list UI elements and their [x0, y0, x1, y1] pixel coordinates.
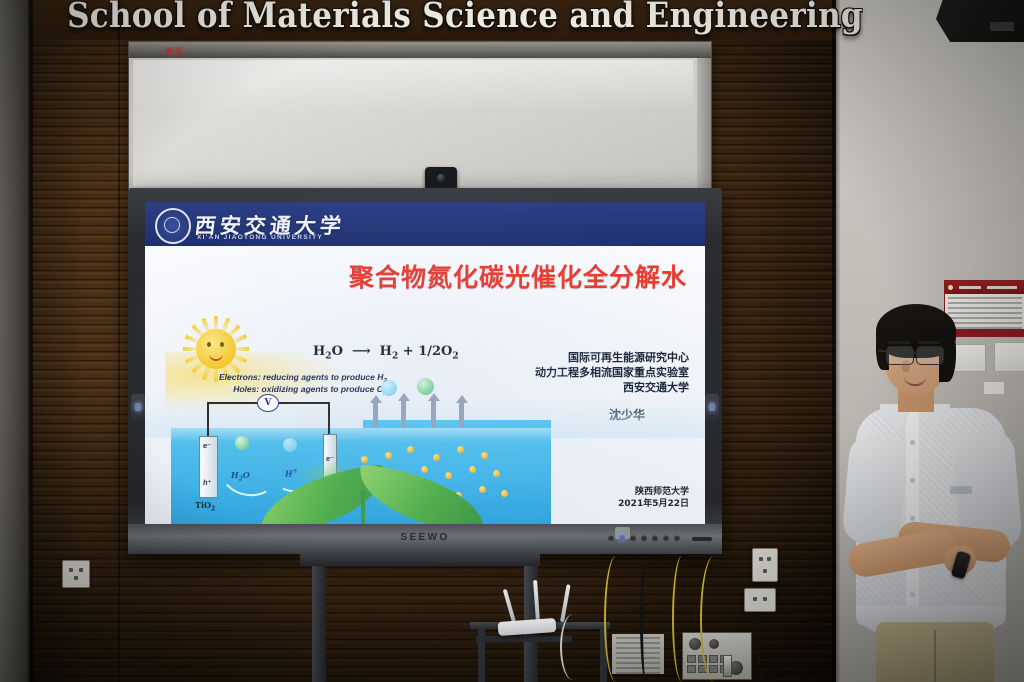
eyebrow-left [888, 341, 910, 344]
left-pillar [0, 0, 30, 682]
display-side-button-left[interactable] [131, 394, 145, 420]
wall-banner: School of Materials Science and Engineer… [120, 0, 810, 36]
display-brand-logo: SEEWO [400, 532, 449, 543]
lecture-hall-photo: School of Materials Science and Engineer… [0, 0, 1024, 682]
leaf-stem [361, 490, 365, 524]
power-indicator-icon [135, 403, 141, 411]
shirt-button [910, 440, 915, 445]
display-screen[interactable]: 西安交通大学 XI'AN JIAOTONG UNIVERSITY 聚合物氮化碳光… [145, 202, 705, 524]
catalyst-particle [421, 466, 428, 473]
nose [902, 360, 910, 372]
affiliation-line-1: 国际可再生能源研究中心 [535, 350, 689, 365]
wire-top-right [275, 402, 329, 404]
affiliation-line-2: 动力工程多相流国家重点实验室 [535, 365, 689, 380]
volume-down-icon[interactable] [652, 535, 658, 541]
slide-header-bar: 西安交通大学 XI'AN JIAOTONG UNIVERSITY [145, 202, 705, 246]
catalyst-particle [501, 490, 508, 497]
hole-symbol-left: h⁺ [203, 478, 212, 487]
eq-plus: + [403, 344, 414, 359]
catalyst-particle [407, 446, 414, 453]
shirt-button [910, 516, 915, 521]
voltmeter-icon: V [257, 394, 279, 412]
poster-emblem-icon [948, 285, 953, 290]
shirt-chest-logo [950, 486, 972, 494]
slide-footer: 陕西师范大学 2021年5月22日 [618, 486, 689, 510]
router-power-cable [560, 614, 586, 680]
catalyst-particle [481, 452, 488, 459]
eq-product1: H [380, 344, 392, 359]
slide-title: 聚合物氮化碳光催化全分解水 [145, 258, 687, 294]
eq-reactant-tail: O [332, 344, 343, 359]
display-camera [425, 167, 457, 189]
h2-bubble-rising [381, 380, 397, 396]
gas-arrow-3 [431, 400, 436, 428]
affiliation-block: 国际可再生能源研究中心 动力工程多相流国家重点实验室 西安交通大学 [535, 350, 689, 395]
catalyst-particle [385, 452, 392, 459]
university-seal-icon [155, 208, 191, 244]
wall-outlet-right[interactable] [752, 548, 778, 582]
catalyst-particle [479, 486, 486, 493]
shirt-button [910, 478, 915, 483]
eq-arrow-icon: ⟶ [352, 344, 371, 359]
h2-bubble-left [283, 438, 297, 452]
display-side-button-right[interactable] [705, 394, 719, 420]
glasses-lens-right [916, 346, 944, 365]
catalyst-particle [445, 472, 452, 479]
gas-arrow-4 [459, 402, 464, 428]
wire-left [207, 402, 209, 438]
eq-reactant: H [313, 344, 325, 359]
university-name-en: XI'AN JIAOTONG UNIVERSITY [197, 234, 323, 241]
electron-symbol-left: e⁻ [203, 441, 211, 450]
label-water-molecule: H2O [231, 470, 250, 483]
catalyst-particle [433, 454, 440, 461]
ethernet-cable-2 [672, 556, 692, 682]
presentation-slide: 西安交通大学 XI'AN JIAOTONG UNIVERSITY 聚合物氮化碳光… [145, 202, 705, 524]
power-indicator-icon [709, 403, 715, 411]
note-holes: Holes: oxidizing agents to produce O2 [233, 384, 387, 397]
sun-icon [185, 318, 247, 380]
gas-arrow-1 [373, 402, 378, 428]
wall-banner-text: School of Materials Science and Engineer… [67, 0, 863, 36]
display-button-row[interactable] [608, 535, 680, 541]
power-button-icon[interactable] [619, 535, 625, 541]
note-electrons: Electrons: reducing agents to produce H2 [219, 372, 387, 385]
eq-product2: O [441, 344, 452, 359]
o2-bubble-left [235, 436, 249, 450]
ethernet-cable-3 [700, 556, 728, 682]
volume-up-icon[interactable] [663, 535, 669, 541]
power-cable-1 [640, 556, 653, 682]
catalyst-particle [457, 446, 464, 453]
water-surface-sheen [171, 428, 551, 442]
shirt-button [910, 592, 915, 597]
wall-speaker [936, 0, 1024, 42]
speaker-grille [990, 22, 1014, 31]
camera-lens-icon [437, 174, 445, 182]
home-button-icon[interactable] [674, 535, 680, 541]
menu-button-icon[interactable] [630, 535, 636, 541]
poster-header-bar [945, 281, 1024, 294]
electrode-tio2-label: TiO2 [195, 500, 215, 513]
wall-outlet-left[interactable] [62, 560, 90, 588]
shirt-sleeve-left [841, 434, 908, 547]
sun-face-icon [196, 329, 236, 369]
whiteboard-glare [133, 60, 693, 112]
eq-product2-sub: 2 [452, 352, 458, 362]
source-button-icon[interactable] [641, 535, 647, 541]
router-shelf [476, 636, 572, 642]
port-icon[interactable] [608, 535, 614, 541]
interactive-display[interactable]: 西安交通大学 XI'AN JIAOTONG UNIVERSITY 聚合物氮化碳光… [128, 188, 722, 554]
affiliation-line-3: 西安交通大学 [535, 380, 689, 395]
water-splitting-equation: H2O ⟶ H2 + 1/2O2 [313, 344, 459, 362]
display-stand-crossbar [300, 554, 540, 566]
wire-right [328, 402, 330, 436]
footer-venue: 陕西师范大学 [618, 486, 689, 498]
display-bottom-bezel: SEEWO [128, 524, 722, 554]
glasses-bridge [912, 352, 918, 354]
whiteboard-side-panel [697, 58, 711, 190]
catalyst-particle [493, 470, 500, 477]
catalyst-particle [469, 466, 476, 473]
wire-top-left [207, 402, 259, 404]
whiteboard: 希沃 [128, 41, 712, 191]
usb-port-icon[interactable] [692, 537, 712, 541]
trouser-seam [934, 630, 936, 682]
eyebrow-right [918, 341, 940, 344]
gas-arrow-2 [401, 400, 406, 428]
whiteboard-brand-logo: 希沃 [165, 45, 184, 58]
wall-outlet-lower[interactable] [744, 588, 776, 612]
wall-panel-seam [118, 0, 120, 682]
whiteboard-top-rail: 希沃 [129, 42, 711, 58]
eq-coefficient: 1/2 [418, 344, 441, 359]
eq-product1-sub: 2 [392, 352, 398, 362]
footer-date: 2021年5月22日 [618, 498, 689, 510]
presenter [838, 300, 1024, 682]
left-wall-seam [30, 0, 33, 682]
ethernet-cable-1 [604, 556, 628, 682]
display-stand-leg-left [312, 566, 326, 682]
